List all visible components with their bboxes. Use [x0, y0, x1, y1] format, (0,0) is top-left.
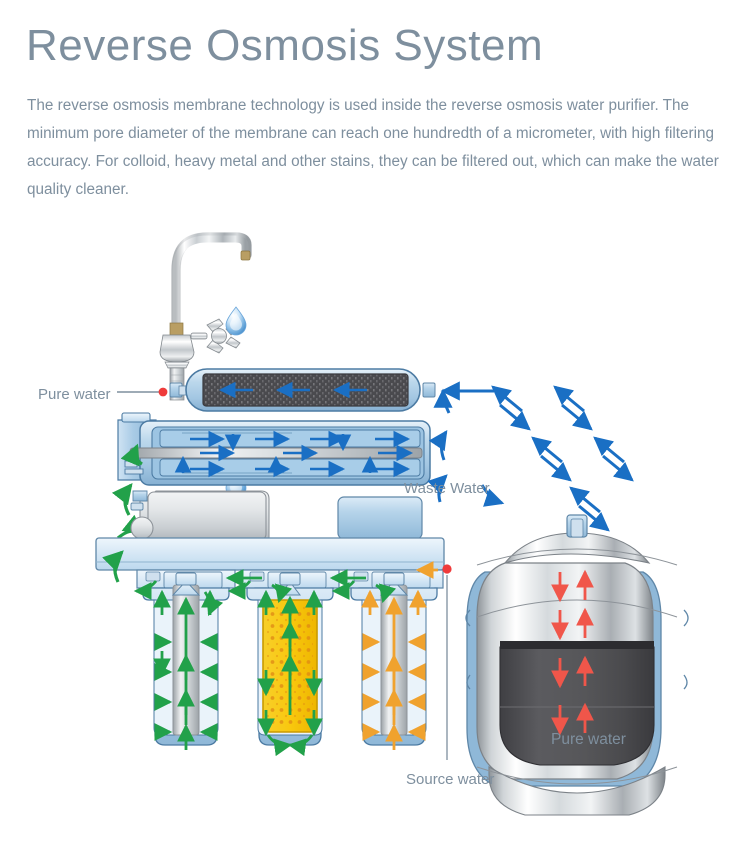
page-title: Reverse Osmosis System — [26, 22, 543, 70]
booster-pump — [131, 491, 269, 541]
label-waste-water: Waste Water — [404, 480, 490, 497]
pure-water-leader — [117, 388, 167, 397]
ro-system-diagram — [0, 215, 750, 844]
pressure-tank — [466, 515, 688, 815]
stage-3-filter — [345, 570, 443, 750]
label-pure-water-left: Pure water — [38, 386, 111, 403]
label-source-water: Source water — [406, 771, 494, 788]
waste-water-arrows — [439, 387, 632, 530]
post-carbon-filter — [170, 369, 435, 411]
stage-2-carbon-block-filter — [241, 570, 339, 745]
label-pure-water-tank: Pure water — [551, 731, 626, 749]
intro-paragraph: The reverse osmosis membrane technology … — [27, 92, 733, 204]
source-water-leader — [442, 564, 451, 760]
stage-1-sediment-filter — [137, 570, 235, 750]
ro-membrane-housing — [118, 413, 430, 485]
control-box — [338, 497, 422, 539]
base-plate — [96, 538, 444, 570]
